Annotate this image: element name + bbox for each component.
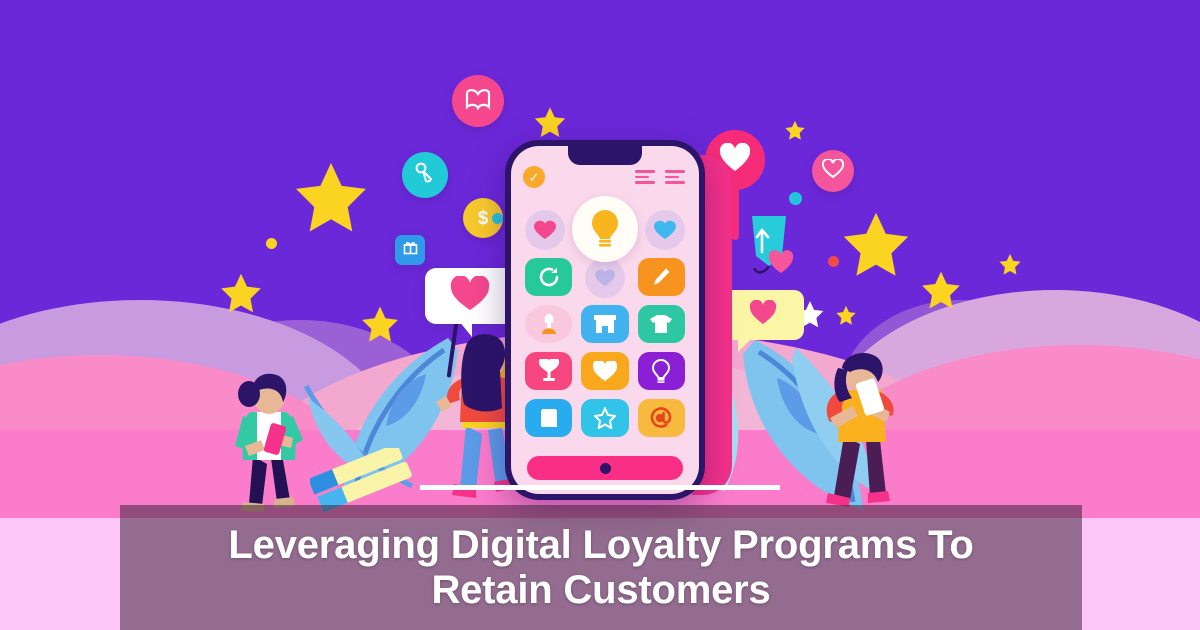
edit-app[interactable] [638, 258, 685, 296]
dollar-coin-icon: $ [478, 209, 489, 228]
heart-icon [450, 276, 490, 317]
page-title: Leveraging Digital Loyalty Programs To R… [208, 523, 993, 613]
phone-screen: ✓ [511, 146, 699, 494]
star-icon [533, 106, 567, 144]
home-button-dot[interactable] [600, 463, 611, 474]
dot-cyan [492, 213, 503, 224]
person-right [808, 350, 928, 515]
title-line-1: Leveraging Digital Loyalty Programs To [228, 523, 973, 567]
person-left [215, 368, 330, 518]
tag-bubble [402, 152, 448, 198]
app-grid [525, 258, 685, 437]
heart-outline-bubble [812, 150, 854, 192]
heart-icon [645, 210, 685, 250]
star-app[interactable] [581, 399, 628, 437]
phone-notch [568, 146, 642, 165]
heart-icon [749, 300, 777, 330]
note-bubble-heart [722, 290, 804, 340]
ideas-app[interactable] [638, 352, 685, 390]
title-line-2: Retain Customers [431, 568, 770, 612]
apparel-app[interactable] [638, 305, 685, 343]
gift-icon [403, 240, 418, 260]
heart-outline-icon [822, 159, 844, 184]
home-indicator-bar[interactable] [527, 456, 683, 480]
refresh-app[interactable] [525, 258, 572, 296]
menu-lines-icon[interactable] [665, 170, 685, 184]
lightbulb-icon [572, 196, 638, 262]
heart-icon [525, 210, 565, 250]
favorites-app[interactable] [581, 352, 628, 390]
dot-yellow [266, 238, 277, 249]
badge-app[interactable] [525, 399, 572, 437]
mention-app[interactable] [638, 399, 685, 437]
tag-icon [414, 162, 436, 189]
menu-lines-icon[interactable] [635, 170, 655, 184]
check-badge-icon: ✓ [523, 166, 545, 188]
star-icon [835, 305, 857, 331]
star-icon [920, 270, 962, 316]
title-divider-rule [420, 485, 780, 490]
star-icon [292, 160, 370, 241]
dot-cyan [789, 192, 802, 205]
star-icon [998, 253, 1022, 281]
pin-stem [731, 182, 739, 240]
rewards-app[interactable] [525, 352, 572, 390]
hero-banner: $ [0, 0, 1200, 630]
title-overlay-band: Leveraging Digital Loyalty Programs To R… [120, 505, 1082, 630]
gift-bubble [395, 235, 425, 265]
heart-small-pink [768, 250, 794, 274]
book-bubble [452, 75, 504, 127]
star-icon [219, 272, 263, 320]
award-app[interactable] [525, 305, 572, 343]
star-icon [840, 210, 912, 285]
speech-bubble-heart [425, 268, 515, 324]
open-book-icon [465, 88, 491, 115]
smartphone-mockup: ✓ [505, 140, 705, 500]
dot-red [828, 256, 839, 267]
star-icon [784, 120, 806, 146]
star-icon [360, 305, 400, 349]
store-app[interactable] [581, 305, 628, 343]
ghost-slot [581, 258, 628, 296]
